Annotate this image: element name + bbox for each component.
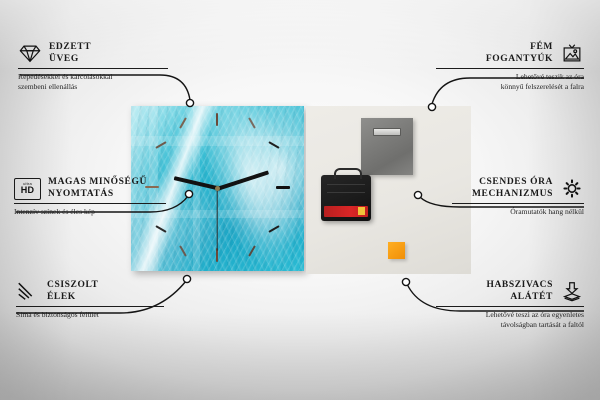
callout-divider — [16, 306, 164, 307]
callout-subtitle: Lehetővé teszi az óra egyenletes távolsá… — [436, 310, 584, 329]
callout-header: HABSZIVACS ALÁTÉT — [436, 280, 584, 303]
mechanism-seam — [327, 184, 365, 185]
wire-node — [183, 275, 190, 282]
callout-title-line2: FOGANTYÚK — [486, 54, 553, 66]
callout-title: HABSZIVACS — [486, 280, 553, 292]
callout-subtitle: Óramutatók hang nélkül — [452, 207, 584, 217]
callout-title: EDZETT — [49, 42, 91, 54]
callout-header: FÉM FOGANTYÚK — [436, 42, 584, 65]
clock-mechanism — [321, 175, 371, 221]
ultra-hd-icon-main: HD — [21, 186, 35, 195]
callout-title-line2: NYOMTATÁS — [48, 189, 147, 201]
callout-title: CSENDES ÓRA — [472, 177, 553, 189]
callout-title: FÉM — [486, 42, 553, 54]
foam-spacer-pad — [388, 242, 405, 259]
callout-subtitle: Lehetővé teszik az óra könnyű felszerelé… — [436, 72, 584, 91]
wire-node — [402, 278, 409, 285]
hanger-slot — [373, 128, 401, 136]
callout-header: ultra HD MAGAS MINŐSÉGŰ NYOMTATÁS — [14, 177, 166, 200]
gear-icon — [560, 178, 584, 199]
battery-plus — [358, 207, 365, 215]
callout-header: CSENDES ÓRA MECHANIZMUS — [452, 177, 584, 200]
callout-title-line2: ALÁTÉT — [486, 292, 553, 304]
callout-metal-handles: FÉM FOGANTYÚK Lehetővé teszik az óra kön… — [436, 42, 584, 91]
clock-tick — [216, 113, 219, 126]
callout-subtitle: Intenzív színek és éles kép — [14, 207, 166, 217]
callout-tempered-glass: EDZETT ÜVEG Repedésekkel és karcolásokka… — [18, 42, 168, 91]
callout-divider — [452, 203, 584, 204]
callout-header: CSISZOLT ÉLEK — [16, 280, 164, 303]
mechanism-handle — [334, 168, 362, 179]
callout-polished-edges: CSISZOLT ÉLEK Sima és biztonságos felüle… — [16, 280, 164, 320]
foam-pad-icon — [560, 281, 584, 302]
callout-divider — [18, 68, 168, 69]
metal-hanger-plate — [361, 118, 413, 175]
band-line — [193, 106, 200, 271]
battery-label — [324, 206, 368, 217]
callout-title-line2: ÉLEK — [47, 292, 98, 304]
callout-subtitle: Repedésekkel és karcolásokkal szembeni e… — [18, 72, 168, 91]
clock-tick — [276, 186, 290, 189]
callout-header: EDZETT ÜVEG — [18, 42, 168, 65]
picture-hanger-icon — [560, 43, 584, 64]
callout-title-line2: MECHANIZMUS — [472, 189, 553, 201]
callout-title: CSISZOLT — [47, 280, 98, 292]
callout-title-line2: ÜVEG — [49, 54, 91, 66]
second-hand — [216, 188, 217, 250]
diamond-icon — [18, 43, 42, 64]
callout-silent-mechanism: CSENDES ÓRA MECHANIZMUS Óramutatók hang … — [452, 177, 584, 217]
product-photo — [131, 106, 471, 274]
ultra-hd-icon: ultra HD — [14, 178, 41, 200]
hands-center-pin — [215, 186, 220, 191]
mechanism-seam — [327, 192, 365, 193]
callout-foam-pad: HABSZIVACS ALÁTÉT Lehetővé teszi az óra … — [436, 280, 584, 329]
callout-divider — [436, 306, 584, 307]
infographic-canvas: EDZETT ÜVEG Repedésekkel és karcolásokka… — [0, 0, 600, 400]
callout-divider — [436, 68, 584, 69]
callout-subtitle: Sima és biztonságos felület — [16, 310, 164, 320]
callout-high-quality-print: ultra HD MAGAS MINŐSÉGŰ NYOMTATÁS Intenz… — [14, 177, 166, 217]
callout-title: MAGAS MINŐSÉGŰ — [48, 177, 147, 189]
polished-edges-icon — [16, 281, 40, 302]
callout-divider — [14, 203, 166, 204]
